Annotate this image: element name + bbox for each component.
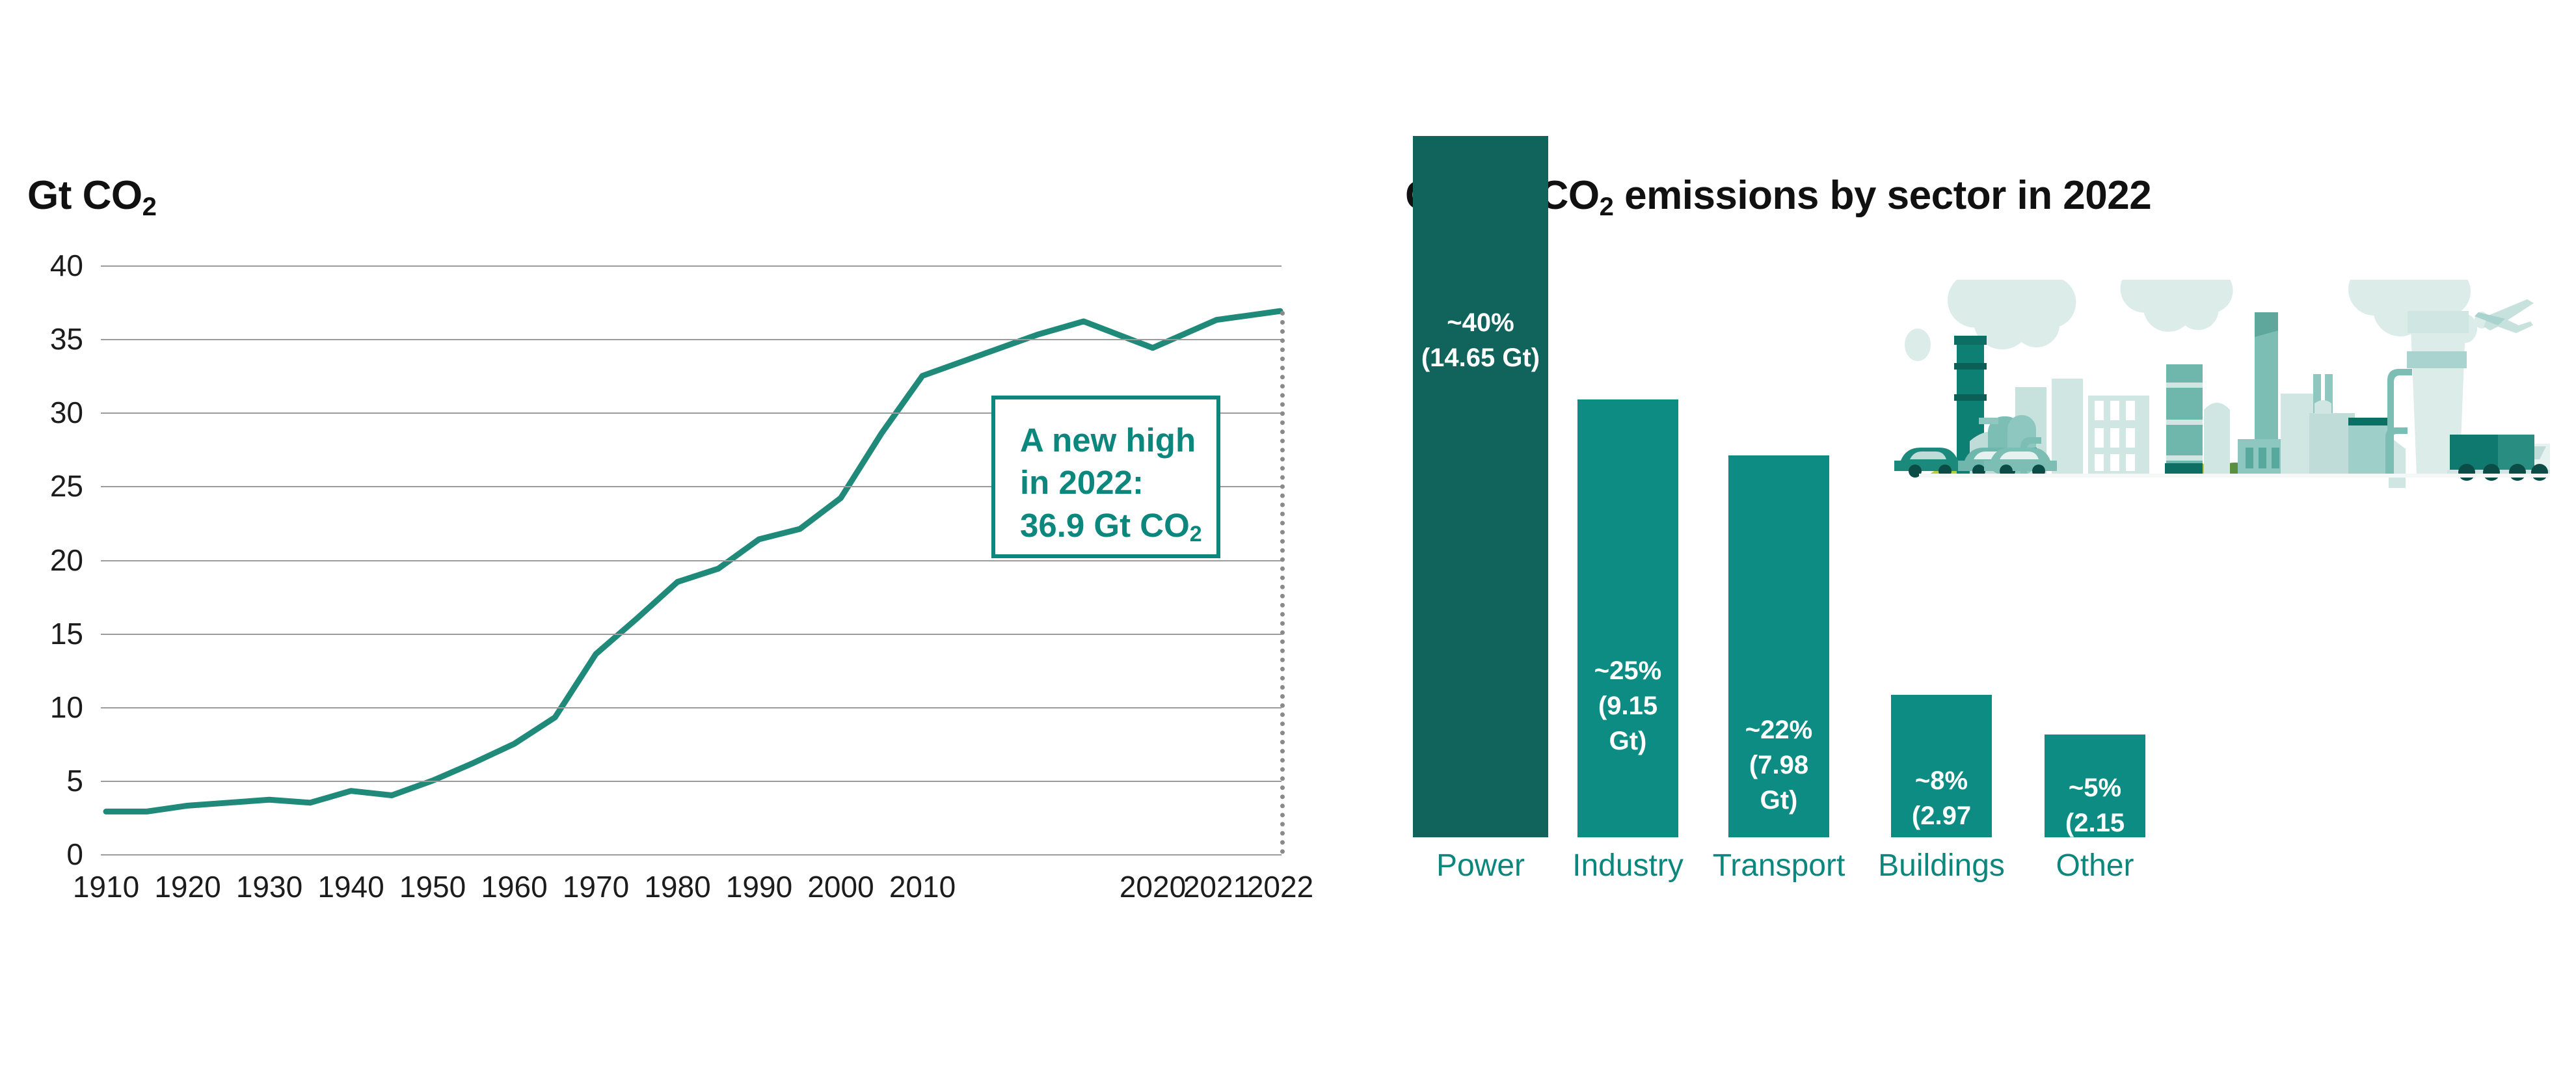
bar-industry[interactable]: ~25%(9.15 Gt) (1577, 399, 1678, 837)
y-axis-tick: 15 (5, 616, 83, 651)
bar-transport[interactable]: ~22%(7.98 Gt) (1728, 455, 1829, 837)
bar-buildings[interactable]: ~8%(2.97 Gt) (1891, 695, 1992, 837)
infographic-root: Gt CO2 0510152025303540 1910192019301940… (0, 0, 2576, 1065)
x-axis-tick: 1950 (399, 869, 466, 904)
category-label-power: Power (1436, 848, 1525, 883)
y-axis-tick: 5 (5, 763, 83, 798)
bar-chart-panel: Global CO2 emissions by sector in 2022 (1353, 0, 2576, 1065)
bar-percent: ~25% (1577, 653, 1678, 688)
year-2022-marker-line (1280, 311, 1285, 854)
gridline (101, 781, 1281, 782)
bar-absolute: (9.15 Gt) (1577, 688, 1678, 759)
bar-value-label: ~22%(7.98 Gt) (1728, 712, 1829, 818)
category-label-other: Other (2056, 848, 2134, 883)
x-axis-tick: 1910 (73, 869, 139, 904)
bar-percent: ~8% (1891, 763, 1992, 798)
x-axis-tick: 2000 (807, 869, 874, 904)
callout-line-2: in 2022: (1020, 461, 1216, 504)
emissions-line (106, 311, 1280, 811)
x-axis-tick: 2010 (889, 869, 956, 904)
bar-percent: ~22% (1728, 712, 1829, 748)
gridline (101, 634, 1281, 635)
y-axis-tick: 25 (5, 468, 83, 504)
x-axis-tick: 2020 (1120, 869, 1186, 904)
x-axis-tick: 1990 (726, 869, 792, 904)
bar-power[interactable]: ~40%(14.65 Gt) (1413, 136, 1548, 837)
line-chart-panel: Gt CO2 0510152025303540 1910192019301940… (0, 0, 1301, 1065)
bar-other[interactable]: ~5%(2.15 Gt) (2045, 735, 2145, 837)
gridline (101, 265, 1281, 267)
gridline (101, 339, 1281, 340)
y-axis-tick-labels: 0510152025303540 (0, 265, 83, 854)
gridline (101, 560, 1281, 561)
category-label-industry: Industry (1572, 848, 1684, 883)
plot-area (101, 265, 1281, 854)
x-axis-tick: 1980 (644, 869, 710, 904)
bar-value-label: ~25%(9.15 Gt) (1577, 653, 1678, 759)
x-axis-tick: 1930 (236, 869, 302, 904)
y-axis-tick: 20 (5, 543, 83, 578)
callout-line-1: A new high (1020, 419, 1216, 461)
category-label-transport: Transport (1713, 848, 1845, 883)
y-axis-tick: 40 (5, 248, 83, 283)
x-axis-tick: 1940 (317, 869, 384, 904)
bar-absolute: (7.98 Gt) (1728, 748, 1829, 818)
x-axis-tick: 1960 (481, 869, 547, 904)
category-label-buildings: Buildings (1878, 848, 2005, 883)
y-axis-tick: 35 (5, 321, 83, 357)
x-axis-tick: 2022 (1247, 869, 1313, 904)
callout-annotation: A new high in 2022: 36.9 Gt CO2 (991, 396, 1220, 558)
bar-group: ~40%(14.65 Gt)Power~25%(9.15 Gt)Industry… (1353, 0, 2576, 1065)
y-axis-tick: 30 (5, 395, 83, 430)
x-axis-tick: 2021 (1183, 869, 1250, 904)
gridline (101, 854, 1281, 856)
x-axis-tick: 1920 (154, 869, 221, 904)
bar-absolute: (14.65 Gt) (1413, 340, 1548, 375)
bar-percent: ~5% (2045, 770, 2145, 805)
bar-value-label: ~40%(14.65 Gt) (1413, 305, 1548, 375)
callout-line-3: 36.9 Gt CO2 (1020, 504, 1216, 546)
x-axis-tick: 1970 (563, 869, 629, 904)
y-axis-title: Gt CO2 (27, 172, 156, 219)
y-axis-tick: 10 (5, 690, 83, 725)
bar-percent: ~40% (1413, 305, 1548, 340)
gridline (101, 707, 1281, 708)
y-axis-tick: 0 (5, 837, 83, 872)
